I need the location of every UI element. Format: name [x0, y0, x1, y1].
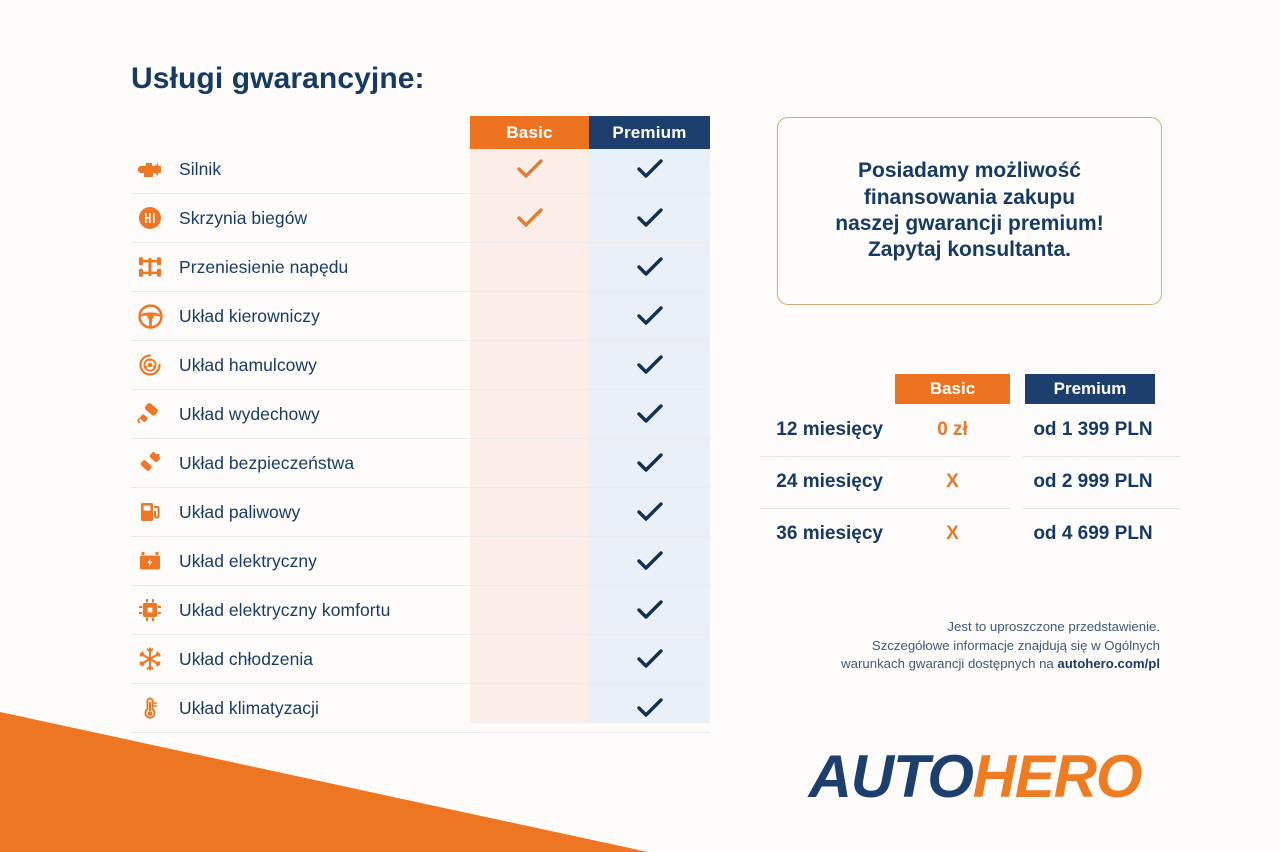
price-table-header: Basic Premium — [760, 374, 1180, 404]
feature-premium-check — [589, 635, 710, 683]
feature-label: Układ klimatyzacji — [179, 698, 319, 719]
feature-label: Układ elektryczny — [179, 551, 317, 572]
promo-line-1: Posiadamy możliwość — [835, 158, 1103, 184]
price-basic-value: 0 zł — [895, 404, 1010, 456]
disclaimer-line-3-text: warunkach gwarancji dostępnych na — [841, 656, 1057, 671]
feature-label: Układ elektryczny komfortu — [179, 600, 390, 621]
feature-premium-check — [589, 341, 710, 389]
feature-row: Przeniesienie napędu — [131, 243, 710, 292]
disclaimer: Jest to uproszczone przedstawienie. Szcz… — [760, 618, 1160, 674]
feature-basic-empty — [470, 390, 589, 438]
disclaimer-line-3: warunkach gwarancji dostępnych na autohe… — [760, 655, 1160, 674]
price-header-basic: Basic — [895, 374, 1010, 404]
feature-basic-empty — [470, 292, 589, 340]
thermometer-icon — [133, 693, 167, 723]
promo-line-4: Zapytaj konsultanta. — [835, 237, 1103, 263]
feature-premium-check — [589, 488, 710, 536]
snowflake-icon — [133, 644, 167, 674]
feature-row: Układ bezpieczeństwa — [131, 439, 710, 488]
price-term: 12 miesięcy — [760, 404, 895, 456]
feature-list: Silnik Skrzynia biegów — [131, 145, 710, 733]
page-title: Usługi gwarancyjne: — [131, 62, 425, 96]
feature-basic-empty — [470, 684, 589, 732]
feature-premium-check — [589, 537, 710, 585]
feature-row: Silnik — [131, 145, 710, 194]
promo-line-2: finansowania zakupu — [835, 185, 1103, 211]
promo-line-3: naszej gwarancji premium! — [835, 211, 1103, 237]
feature-basic-check — [470, 145, 589, 193]
feature-basic-check — [470, 194, 589, 242]
feature-premium-check — [589, 586, 710, 634]
feature-premium-check — [589, 684, 710, 732]
feature-premium-check — [589, 243, 710, 291]
price-premium-value: od 1 399 PLN — [1018, 404, 1168, 456]
fuel-pump-icon — [133, 497, 167, 527]
autohero-website-link[interactable]: autohero.com/pl — [1057, 656, 1160, 671]
price-row: 24 miesięcy X od 2 999 PLN — [760, 456, 1180, 508]
services-panel: Usługi gwarancyjne: Basic Premium Silnik — [0, 0, 760, 852]
disclaimer-line-1: Jest to uproszczone przedstawienie. — [760, 618, 1160, 637]
price-basic-value: X — [895, 456, 1010, 508]
feature-label: Układ hamulcowy — [179, 355, 317, 376]
chip-icon — [133, 595, 167, 625]
feature-row: Układ paliwowy — [131, 488, 710, 537]
gearbox-icon — [133, 203, 167, 233]
price-row: 36 miesięcy X od 4 699 PLN — [760, 508, 1180, 560]
feature-label: Układ wydechowy — [179, 404, 320, 425]
feature-basic-empty — [470, 243, 589, 291]
feature-basic-empty — [470, 635, 589, 683]
feature-premium-check — [589, 145, 710, 193]
disclaimer-line-2: Szczegółowe informacje znajdują się w Og… — [760, 637, 1160, 656]
feature-label: Silnik — [179, 159, 221, 180]
feature-row: Układ elektryczny — [131, 537, 710, 586]
feature-row: Układ elektryczny komfortu — [131, 586, 710, 635]
price-term: 36 miesięcy — [760, 508, 895, 560]
price-row: 12 miesięcy 0 zł od 1 399 PLN — [760, 404, 1180, 456]
promo-text: Posiadamy możliwość finansowania zakupu … — [825, 158, 1113, 264]
autohero-logo: AUTOHERO — [770, 742, 1180, 812]
logo-word-hero: HERO — [973, 743, 1142, 810]
feature-label: Układ paliwowy — [179, 502, 300, 523]
logo-word-auto: AUTO — [809, 743, 973, 810]
feature-label: Układ kierowniczy — [179, 306, 320, 327]
feature-row: Układ wydechowy — [131, 390, 710, 439]
feature-row: Układ klimatyzacji — [131, 684, 710, 733]
feature-premium-check — [589, 439, 710, 487]
price-table: Basic Premium 12 miesięcy 0 zł od 1 399 … — [760, 374, 1180, 560]
price-term: 24 miesięcy — [760, 456, 895, 508]
financing-promo-box: Posiadamy możliwość finansowania zakupu … — [777, 117, 1162, 305]
feature-premium-check — [589, 390, 710, 438]
exhaust-icon — [133, 399, 167, 429]
seatbelt-icon — [133, 448, 167, 478]
feature-basic-empty — [470, 439, 589, 487]
feature-label: Skrzynia biegów — [179, 208, 307, 229]
offer-panel: Posiadamy możliwość finansowania zakupu … — [760, 0, 1280, 852]
drivetrain-icon — [133, 252, 167, 282]
feature-row: Układ hamulcowy — [131, 341, 710, 390]
price-header-premium: Premium — [1025, 374, 1155, 404]
steering-wheel-icon — [133, 301, 167, 331]
feature-row: Układ kierowniczy — [131, 292, 710, 341]
brake-disc-icon — [133, 350, 167, 380]
feature-basic-empty — [470, 488, 589, 536]
price-premium-value: od 2 999 PLN — [1018, 456, 1168, 508]
feature-premium-check — [589, 292, 710, 340]
feature-row: Skrzynia biegów — [131, 194, 710, 243]
engine-icon — [133, 154, 167, 184]
feature-label: Przeniesienie napędu — [179, 257, 348, 278]
price-basic-value: X — [895, 508, 1010, 560]
battery-icon — [133, 546, 167, 576]
feature-basic-empty — [470, 537, 589, 585]
feature-basic-empty — [470, 341, 589, 389]
feature-row: Układ chłodzenia — [131, 635, 710, 684]
feature-basic-empty — [470, 586, 589, 634]
logo-text: AUTOHERO — [809, 747, 1142, 807]
feature-label: Układ chłodzenia — [179, 649, 313, 670]
feature-label: Układ bezpieczeństwa — [179, 453, 354, 474]
feature-premium-check — [589, 194, 710, 242]
price-premium-value: od 4 699 PLN — [1018, 508, 1168, 560]
poster-canvas: Usługi gwarancyjne: Basic Premium Silnik — [0, 0, 1280, 852]
